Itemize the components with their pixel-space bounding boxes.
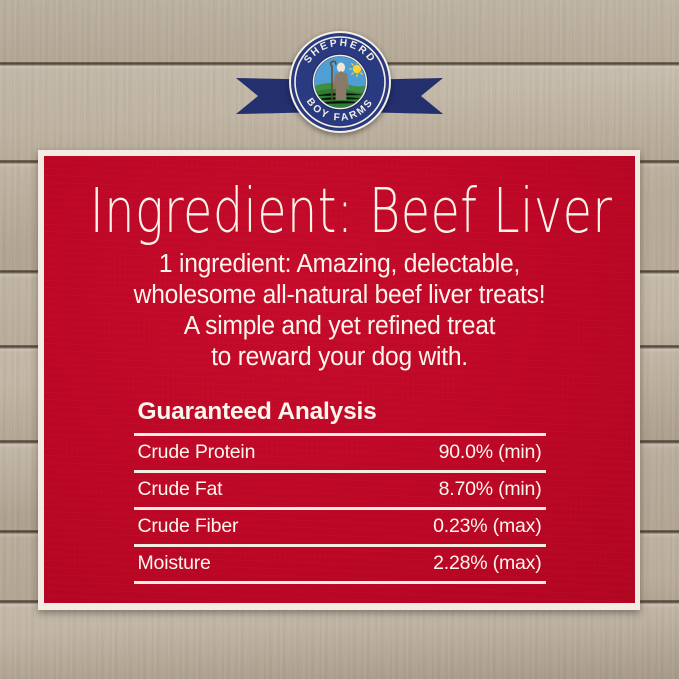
table-row: Crude Protein 90.0% (min) [134, 436, 546, 471]
nutrient-value: 8.70% (min) [439, 478, 542, 501]
page-title: Ingredient: Beef Liver [90, 180, 590, 244]
guaranteed-analysis-table: Guaranteed Analysis Crude Protein 90.0% … [134, 398, 546, 584]
nutrient-name: Crude Fat [138, 478, 223, 501]
description-line: A simple and yet refined treat [72, 311, 608, 342]
table-divider [134, 581, 546, 584]
description-line: to reward your dog with. [72, 342, 608, 373]
nutrient-name: Crude Protein [138, 441, 256, 464]
product-label-image: SHEPHERD BOY FARMS Ingredient: Beef Live… [0, 0, 679, 679]
nutrient-value: 2.28% (max) [433, 552, 541, 575]
wood-plank-band [0, 604, 679, 679]
label-panel: Ingredient: Beef Liver 1 ingredient: Ama… [44, 156, 635, 603]
nutrient-value: 90.0% (min) [439, 441, 542, 464]
brand-logo: SHEPHERD BOY FARMS [0, 26, 679, 138]
table-row: Crude Fiber 0.23% (max) [134, 510, 546, 545]
product-description: 1 ingredient: Amazing, delectable, whole… [72, 249, 608, 372]
label-panel-border: Ingredient: Beef Liver 1 ingredient: Ama… [38, 150, 640, 610]
nutrient-name: Moisture [138, 552, 211, 575]
guaranteed-analysis-heading: Guaranteed Analysis [134, 398, 546, 426]
description-line: 1 ingredient: Amazing, delectable, [72, 249, 608, 280]
description-line: wholesome all-natural beef liver treats! [72, 280, 608, 311]
nutrient-value: 0.23% (max) [433, 515, 541, 538]
table-row: Crude Fat 8.70% (min) [134, 473, 546, 508]
table-row: Moisture 2.28% (max) [134, 547, 546, 582]
shepherd-boy-farms-seal-icon: SHEPHERD BOY FARMS [288, 30, 392, 134]
nutrient-name: Crude Fiber [138, 515, 239, 538]
